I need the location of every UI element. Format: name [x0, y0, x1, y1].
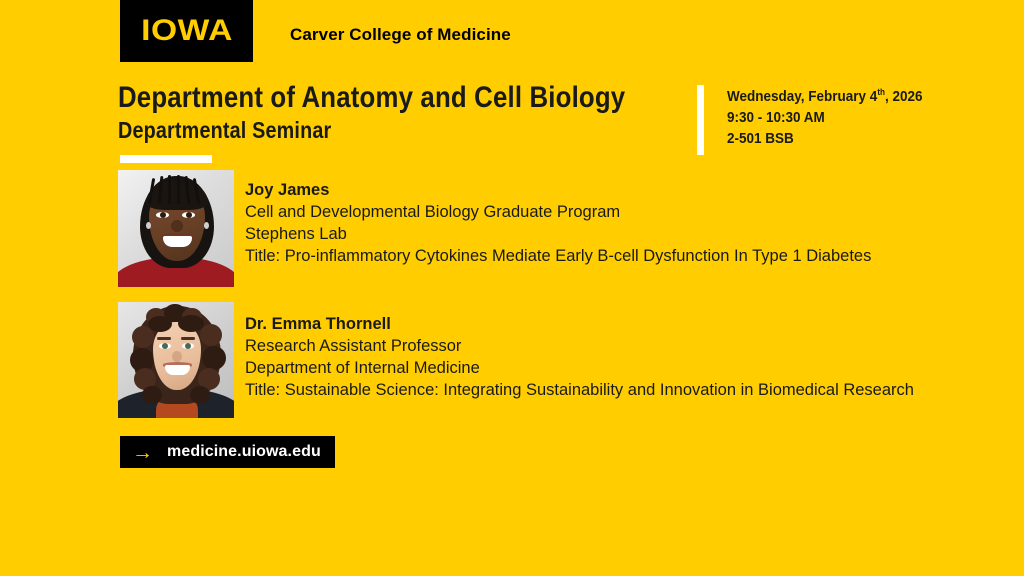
- speaker-photo-2: [118, 302, 234, 418]
- event-date: Wednesday, February 4th, 2026: [727, 86, 923, 107]
- speaker-talk-title: Title: Sustainable Science: Integrating …: [245, 379, 1005, 401]
- seminar-flyer: IOWA Carver College of Medicine Departme…: [0, 0, 1024, 576]
- department-title: Department of Anatomy and Cell Biology: [118, 82, 625, 114]
- title-underline-rule: [120, 155, 212, 163]
- speaker-photo-1: [118, 170, 234, 287]
- event-date-weekday: Wednesday, February: [727, 88, 870, 105]
- event-details: Wednesday, February 4th, 2026 9:30 - 10:…: [727, 86, 923, 149]
- seminar-subtitle: Departmental Seminar: [118, 118, 331, 143]
- speaker-lab: Department of Internal Medicine: [245, 357, 1005, 379]
- event-date-year: , 2026: [885, 88, 923, 105]
- speaker-name: Joy James: [245, 179, 1005, 201]
- website-url-label: medicine.uiowa.edu: [167, 443, 321, 461]
- arrow-right-icon: →: [132, 442, 153, 463]
- website-link-button[interactable]: → medicine.uiowa.edu: [120, 436, 335, 468]
- event-time: 9:30 - 10:30 AM: [727, 107, 923, 128]
- speaker-affiliation: Cell and Developmental Biology Graduate …: [245, 201, 1005, 223]
- speaker-lab: Stephens Lab: [245, 223, 1005, 245]
- speaker-info-2: Dr. Emma Thornell Research Assistant Pro…: [245, 313, 1005, 401]
- iowa-logo-text: IOWA: [141, 16, 233, 46]
- event-date-ordinal: th: [877, 87, 885, 97]
- speaker-info-1: Joy James Cell and Developmental Biology…: [245, 179, 1005, 267]
- event-date-day: 4: [870, 88, 878, 105]
- college-name: Carver College of Medicine: [290, 25, 511, 45]
- event-location: 2-501 BSB: [727, 128, 923, 149]
- speaker-talk-title: Title: Pro-inflammatory Cytokines Mediat…: [245, 245, 1005, 267]
- date-accent-bar: [697, 85, 704, 155]
- speaker-name: Dr. Emma Thornell: [245, 313, 1005, 335]
- iowa-logo: IOWA: [120, 0, 253, 62]
- speaker-affiliation: Research Assistant Professor: [245, 335, 1005, 357]
